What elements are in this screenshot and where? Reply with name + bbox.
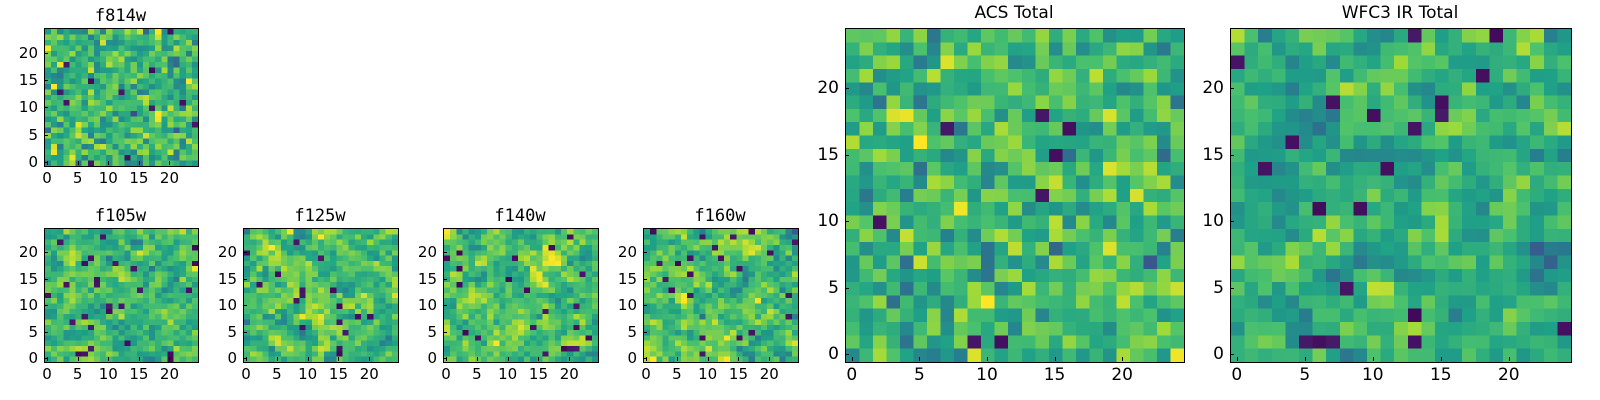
y-tick-label: 10 — [19, 296, 38, 314]
y-tick-label: 5 — [227, 323, 237, 341]
x-tick-mark — [1122, 357, 1123, 361]
x-tick-label: 5 — [73, 365, 83, 383]
y-tick-label: 0 — [627, 349, 637, 367]
x-tick-mark — [477, 357, 478, 361]
y-tick-mark — [243, 279, 247, 280]
y-tick-mark — [443, 305, 447, 306]
y-tick-mark — [44, 358, 48, 359]
panel-title: f125w — [243, 206, 397, 226]
panel-f140w: f140w0510152005101520 — [443, 228, 597, 361]
x-tick-mark — [852, 357, 853, 361]
x-tick-mark — [277, 357, 278, 361]
y-tick-label: 5 — [28, 126, 38, 144]
heatmap-plot-area — [44, 228, 199, 363]
y-tick-label: 10 — [19, 98, 38, 116]
heatmap-image — [45, 229, 198, 362]
y-tick-mark — [44, 162, 48, 163]
y-tick-mark — [44, 53, 48, 54]
x-tick-mark — [1373, 357, 1374, 361]
x-tick-label: 0 — [42, 169, 52, 187]
y-tick-label: 10 — [618, 296, 637, 314]
y-tick-label: 0 — [1213, 344, 1224, 364]
x-tick-mark — [169, 161, 170, 165]
y-tick-label: 5 — [828, 278, 839, 298]
y-tick-mark — [845, 88, 849, 89]
y-tick-label: 10 — [817, 211, 839, 231]
y-tick-mark — [243, 252, 247, 253]
heatmap-image — [644, 229, 798, 362]
y-tick-mark — [44, 279, 48, 280]
panel-acs-total: ACS Total0510152005101520 — [845, 28, 1183, 361]
x-tick-label: 0 — [441, 365, 451, 383]
x-tick-label: 10 — [1362, 365, 1384, 385]
y-tick-label: 10 — [418, 296, 437, 314]
heatmap-plot-area — [44, 28, 199, 167]
y-tick-label: 5 — [427, 323, 437, 341]
y-tick-label: 20 — [418, 243, 437, 261]
y-tick-mark — [643, 358, 647, 359]
y-tick-mark — [44, 305, 48, 306]
x-tick-label: 0 — [1231, 365, 1242, 385]
x-tick-label: 10 — [99, 365, 118, 383]
y-tick-mark — [1230, 155, 1234, 156]
x-tick-label: 15 — [129, 169, 148, 187]
y-tick-mark — [443, 252, 447, 253]
x-tick-label: 20 — [760, 365, 779, 383]
y-tick-mark — [44, 107, 48, 108]
y-tick-label: 15 — [218, 270, 237, 288]
heatmap-plot-area — [443, 228, 599, 363]
panel-title: f105w — [44, 206, 197, 226]
y-tick-label: 15 — [19, 270, 38, 288]
x-tick-mark — [919, 357, 920, 361]
heatmap-plot-area — [643, 228, 799, 363]
x-tick-mark — [708, 357, 709, 361]
y-tick-label: 15 — [1202, 145, 1224, 165]
y-tick-label: 5 — [28, 323, 38, 341]
y-tick-mark — [643, 332, 647, 333]
x-tick-label: 20 — [160, 365, 179, 383]
y-tick-mark — [1230, 88, 1234, 89]
x-tick-label: 10 — [976, 365, 998, 385]
x-tick-label: 5 — [672, 365, 682, 383]
x-tick-label: 0 — [241, 365, 251, 383]
panel-wfc3-ir-total: WFC3 IR Total0510152005101520 — [1230, 28, 1570, 361]
x-tick-label: 15 — [1430, 365, 1452, 385]
x-tick-mark — [169, 357, 170, 361]
y-tick-mark — [44, 80, 48, 81]
x-tick-mark — [1055, 357, 1056, 361]
panel-title: f160w — [643, 206, 797, 226]
y-tick-label: 0 — [828, 344, 839, 364]
y-tick-mark — [443, 279, 447, 280]
x-tick-mark — [769, 357, 770, 361]
x-tick-mark — [369, 357, 370, 361]
y-tick-label: 5 — [627, 323, 637, 341]
x-tick-mark — [139, 357, 140, 361]
x-tick-mark — [1441, 357, 1442, 361]
x-tick-label: 5 — [472, 365, 482, 383]
x-tick-label: 20 — [1111, 365, 1133, 385]
y-tick-mark — [243, 305, 247, 306]
x-tick-label: 0 — [846, 365, 857, 385]
heatmap-plot-area — [1230, 28, 1572, 363]
x-tick-label: 20 — [360, 365, 379, 383]
x-tick-mark — [78, 357, 79, 361]
y-tick-label: 15 — [418, 270, 437, 288]
x-tick-label: 15 — [129, 365, 148, 383]
panel-title: WFC3 IR Total — [1230, 3, 1570, 23]
x-tick-label: 5 — [1299, 365, 1310, 385]
y-tick-mark — [845, 354, 849, 355]
x-tick-mark — [1305, 357, 1306, 361]
x-tick-mark — [569, 357, 570, 361]
heatmap-image — [45, 29, 198, 166]
x-tick-mark — [78, 161, 79, 165]
y-tick-mark — [44, 332, 48, 333]
x-tick-mark — [108, 357, 109, 361]
panel-f160w: f160w0510152005101520 — [643, 228, 797, 361]
y-tick-label: 0 — [28, 349, 38, 367]
y-tick-label: 15 — [817, 145, 839, 165]
y-tick-label: 20 — [1202, 78, 1224, 98]
x-tick-label: 5 — [272, 365, 282, 383]
x-tick-mark — [1509, 357, 1510, 361]
x-tick-label: 20 — [1498, 365, 1520, 385]
heatmap-image — [1231, 29, 1571, 362]
y-tick-label: 0 — [427, 349, 437, 367]
y-tick-label: 5 — [1213, 278, 1224, 298]
x-tick-label: 10 — [698, 365, 717, 383]
y-tick-label: 0 — [28, 153, 38, 171]
y-tick-label: 20 — [19, 44, 38, 62]
heatmap-image — [244, 229, 398, 362]
y-tick-mark — [845, 155, 849, 156]
y-tick-label: 20 — [19, 243, 38, 261]
y-tick-mark — [643, 252, 647, 253]
x-tick-mark — [1237, 357, 1238, 361]
y-tick-mark — [1230, 354, 1234, 355]
panel-f125w: f125w0510152005101520 — [243, 228, 397, 361]
panel-title: f814w — [44, 6, 197, 26]
x-tick-label: 10 — [99, 169, 118, 187]
y-tick-label: 10 — [218, 296, 237, 314]
x-tick-mark — [108, 161, 109, 165]
x-tick-label: 15 — [1044, 365, 1066, 385]
x-tick-label: 15 — [329, 365, 348, 383]
y-tick-mark — [243, 332, 247, 333]
x-tick-mark — [508, 357, 509, 361]
x-tick-mark — [308, 357, 309, 361]
y-tick-mark — [243, 358, 247, 359]
y-tick-mark — [44, 135, 48, 136]
y-tick-mark — [845, 288, 849, 289]
y-tick-label: 20 — [618, 243, 637, 261]
panel-f105w: f105w0510152005101520 — [44, 228, 197, 361]
x-tick-label: 20 — [160, 169, 179, 187]
x-tick-label: 0 — [641, 365, 651, 383]
x-tick-label: 10 — [298, 365, 317, 383]
x-tick-mark — [139, 161, 140, 165]
x-tick-label: 0 — [42, 365, 52, 383]
panel-title: f140w — [443, 206, 597, 226]
y-tick-label: 10 — [1202, 211, 1224, 231]
x-tick-label: 15 — [729, 365, 748, 383]
y-tick-mark — [643, 305, 647, 306]
y-tick-label: 20 — [817, 78, 839, 98]
x-tick-label: 10 — [498, 365, 517, 383]
x-tick-label: 5 — [914, 365, 925, 385]
y-tick-mark — [1230, 221, 1234, 222]
y-tick-mark — [443, 358, 447, 359]
heatmap-plot-area — [845, 28, 1185, 363]
y-tick-label: 15 — [618, 270, 637, 288]
x-tick-mark — [538, 357, 539, 361]
x-tick-mark — [677, 357, 678, 361]
x-tick-mark — [338, 357, 339, 361]
x-tick-label: 20 — [560, 365, 579, 383]
y-tick-mark — [1230, 288, 1234, 289]
y-tick-mark — [845, 221, 849, 222]
x-tick-label: 15 — [529, 365, 548, 383]
y-tick-mark — [643, 279, 647, 280]
heatmap-plot-area — [243, 228, 399, 363]
y-tick-label: 0 — [227, 349, 237, 367]
x-tick-mark — [987, 357, 988, 361]
panel-title: ACS Total — [845, 3, 1183, 23]
heatmap-image — [444, 229, 598, 362]
panel-f814w: f814w0510152005101520 — [44, 28, 197, 165]
y-tick-mark — [443, 332, 447, 333]
y-tick-mark — [44, 252, 48, 253]
y-tick-label: 15 — [19, 71, 38, 89]
y-tick-label: 20 — [218, 243, 237, 261]
x-tick-mark — [738, 357, 739, 361]
heatmap-image — [846, 29, 1184, 362]
x-tick-label: 5 — [73, 169, 83, 187]
